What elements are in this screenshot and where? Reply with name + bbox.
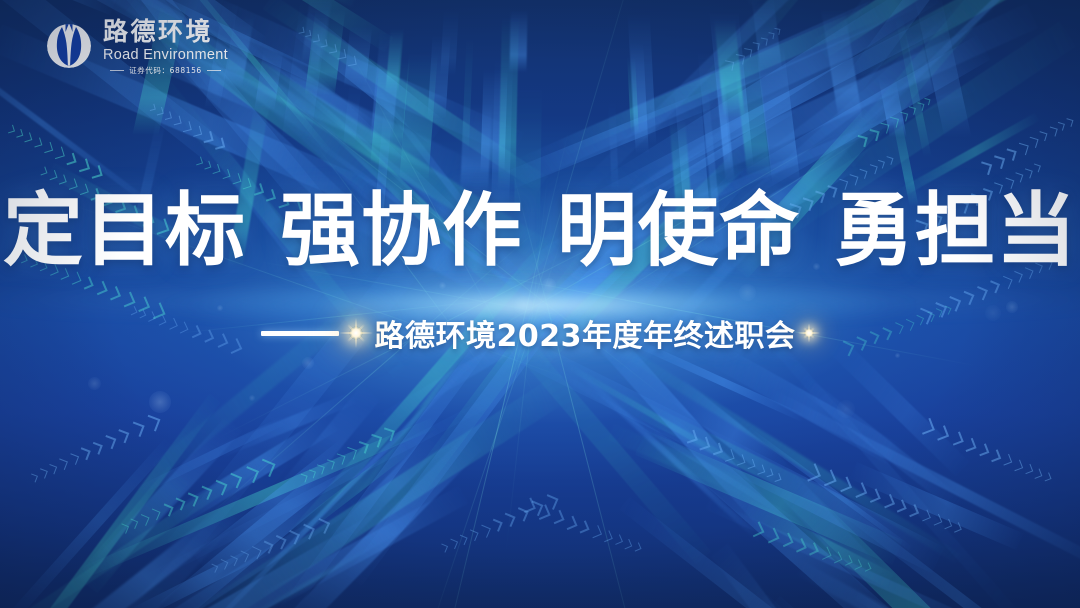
slide-subtitle-row: 路德环境2023年度年终述职会	[0, 311, 1080, 355]
headline-part-4: 勇担当	[834, 184, 1077, 277]
presentation-title-slide: 路德环境 Road Environment 证券代码：688156 定目标强协作…	[0, 0, 1080, 608]
brand-name-cn: 路德环境	[103, 19, 228, 44]
brand-name-en: Road Environment	[103, 48, 228, 63]
subtitle-dash	[261, 331, 339, 336]
rule-right	[207, 70, 221, 71]
brand-text-block: 路德环境 Road Environment 证券代码：688156	[103, 18, 228, 74]
road-environment-leaf-mark-icon	[46, 23, 92, 69]
slide-headline: 定目标强协作明使命勇担当	[0, 166, 1080, 282]
slide-subtitle: 路德环境2023年度年终述职会	[375, 311, 796, 355]
star-sparkle-icon	[339, 316, 373, 350]
stock-code-row: 证券代码：688156	[103, 67, 228, 75]
headline-part-3: 明使命	[557, 184, 800, 277]
stock-code-text: 证券代码：688156	[129, 67, 202, 75]
headline-part-1: 定目标	[3, 184, 246, 277]
company-logo-lockup: 路德环境 Road Environment 证券代码：688156	[46, 18, 228, 74]
star-sparkle-icon	[798, 322, 820, 344]
rule-left	[110, 70, 124, 71]
headline-part-2: 强协作	[280, 184, 523, 277]
